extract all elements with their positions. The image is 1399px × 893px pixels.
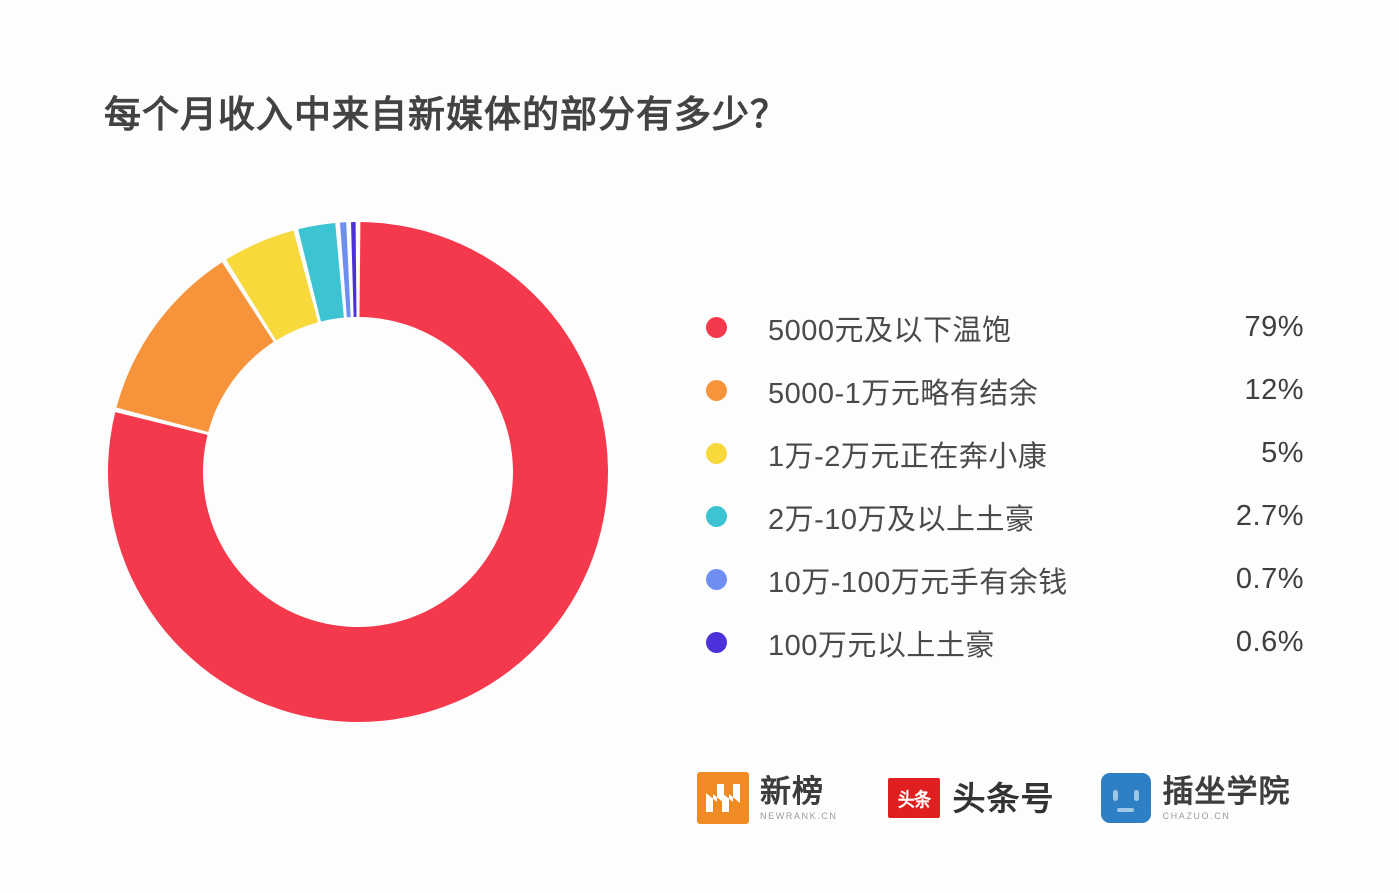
logo-name-cn: 新榜	[760, 776, 838, 807]
footer-logo-strip: 新榜 NEWRANK.CN 头条 头条号 插坐学院 CHAZUO.CN	[697, 772, 1291, 824]
legend-item-value: 79%	[1174, 311, 1304, 344]
logo-name-cn: 插坐学院	[1163, 776, 1291, 807]
donut-chart-svg	[108, 222, 608, 722]
legend-item[interactable]: 2万-10万及以上土豪 2.7%	[706, 485, 1306, 548]
legend-item[interactable]: 5000-1万元略有结余 12%	[706, 359, 1306, 422]
page-title: 每个月收入中来自新媒体的部分有多少？	[104, 84, 788, 138]
legend-color-swatch-icon	[706, 317, 727, 338]
legend-item-label: 1万-2万元正在奔小康	[768, 433, 1047, 475]
legend-item-label: 2万-10万及以上土豪	[768, 496, 1035, 538]
face-eye-right	[1134, 790, 1139, 801]
legend-item[interactable]: 1万-2万元正在奔小康 5%	[706, 422, 1306, 485]
legend-item-value: 2.7%	[1174, 500, 1304, 533]
newrank-n-icon	[697, 772, 749, 824]
logo-chazuo[interactable]: 插坐学院 CHAZUO.CN	[1101, 773, 1291, 823]
chazuo-face-icon	[1101, 773, 1151, 823]
logo-newrank[interactable]: 新榜 NEWRANK.CN	[697, 772, 838, 824]
toutiao-box-text: 头条	[897, 785, 929, 812]
legend-item[interactable]: 5000元及以下温饱 79%	[706, 296, 1306, 359]
donut-chart	[108, 222, 608, 722]
legend-item-value: 12%	[1174, 374, 1304, 407]
legend-color-swatch-icon	[706, 443, 727, 464]
legend-item-label: 5000元及以下温饱	[768, 307, 1012, 349]
legend-item-value: 0.6%	[1174, 626, 1304, 659]
legend-item-label: 10万-100万元手有余钱	[768, 559, 1068, 601]
donut-slice[interactable]	[351, 222, 357, 317]
slide-canvas: 每个月收入中来自新媒体的部分有多少？ 5000元及以下温饱 79% 5000-1…	[0, 0, 1399, 893]
donut-slices	[108, 222, 608, 722]
legend-color-swatch-icon	[706, 506, 727, 527]
face-eye-left	[1113, 790, 1118, 801]
legend-item-value: 0.7%	[1174, 563, 1304, 596]
toutiao-box-icon: 头条	[888, 778, 940, 818]
face-mouth	[1117, 808, 1134, 812]
legend-item[interactable]: 10万-100万元手有余钱 0.7%	[706, 548, 1306, 611]
legend-color-swatch-icon	[706, 380, 727, 401]
logo-toutiao[interactable]: 头条 头条号	[888, 778, 1055, 818]
logo-name-en: CHAZUO.CN	[1163, 812, 1291, 821]
legend-item-value: 5%	[1174, 437, 1304, 470]
logo-name-cn: 头条号	[953, 782, 1055, 815]
chart-legend: 5000元及以下温饱 79% 5000-1万元略有结余 12% 1万-2万元正在…	[706, 296, 1306, 674]
chazuo-wordmark: 插坐学院 CHAZUO.CN	[1163, 776, 1291, 821]
legend-item[interactable]: 100万元以上土豪 0.6%	[706, 611, 1306, 674]
legend-color-swatch-icon	[706, 569, 727, 590]
legend-item-label: 100万元以上土豪	[768, 622, 995, 664]
newrank-wordmark: 新榜 NEWRANK.CN	[760, 776, 838, 821]
logo-name-en: NEWRANK.CN	[760, 812, 838, 821]
legend-item-label: 5000-1万元略有结余	[768, 370, 1038, 412]
legend-color-swatch-icon	[706, 632, 727, 653]
